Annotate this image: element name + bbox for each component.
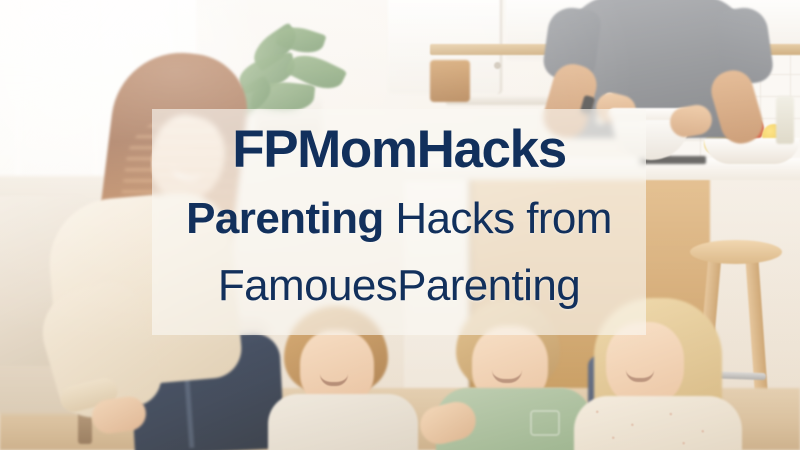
tagline-line: Parenting Hacks from [152, 185, 646, 253]
brand-title: FPMomHacks [152, 115, 646, 185]
source-name: FamouesParenting [152, 253, 646, 319]
tagline-emphasis: Parenting [186, 194, 384, 243]
tagline-rest: Hacks from [384, 194, 612, 243]
hero-banner: FPMomHacks Parenting Hacks from FamouesP… [0, 0, 800, 450]
headline-block: FPMomHacks Parenting Hacks from FamouesP… [152, 109, 646, 335]
